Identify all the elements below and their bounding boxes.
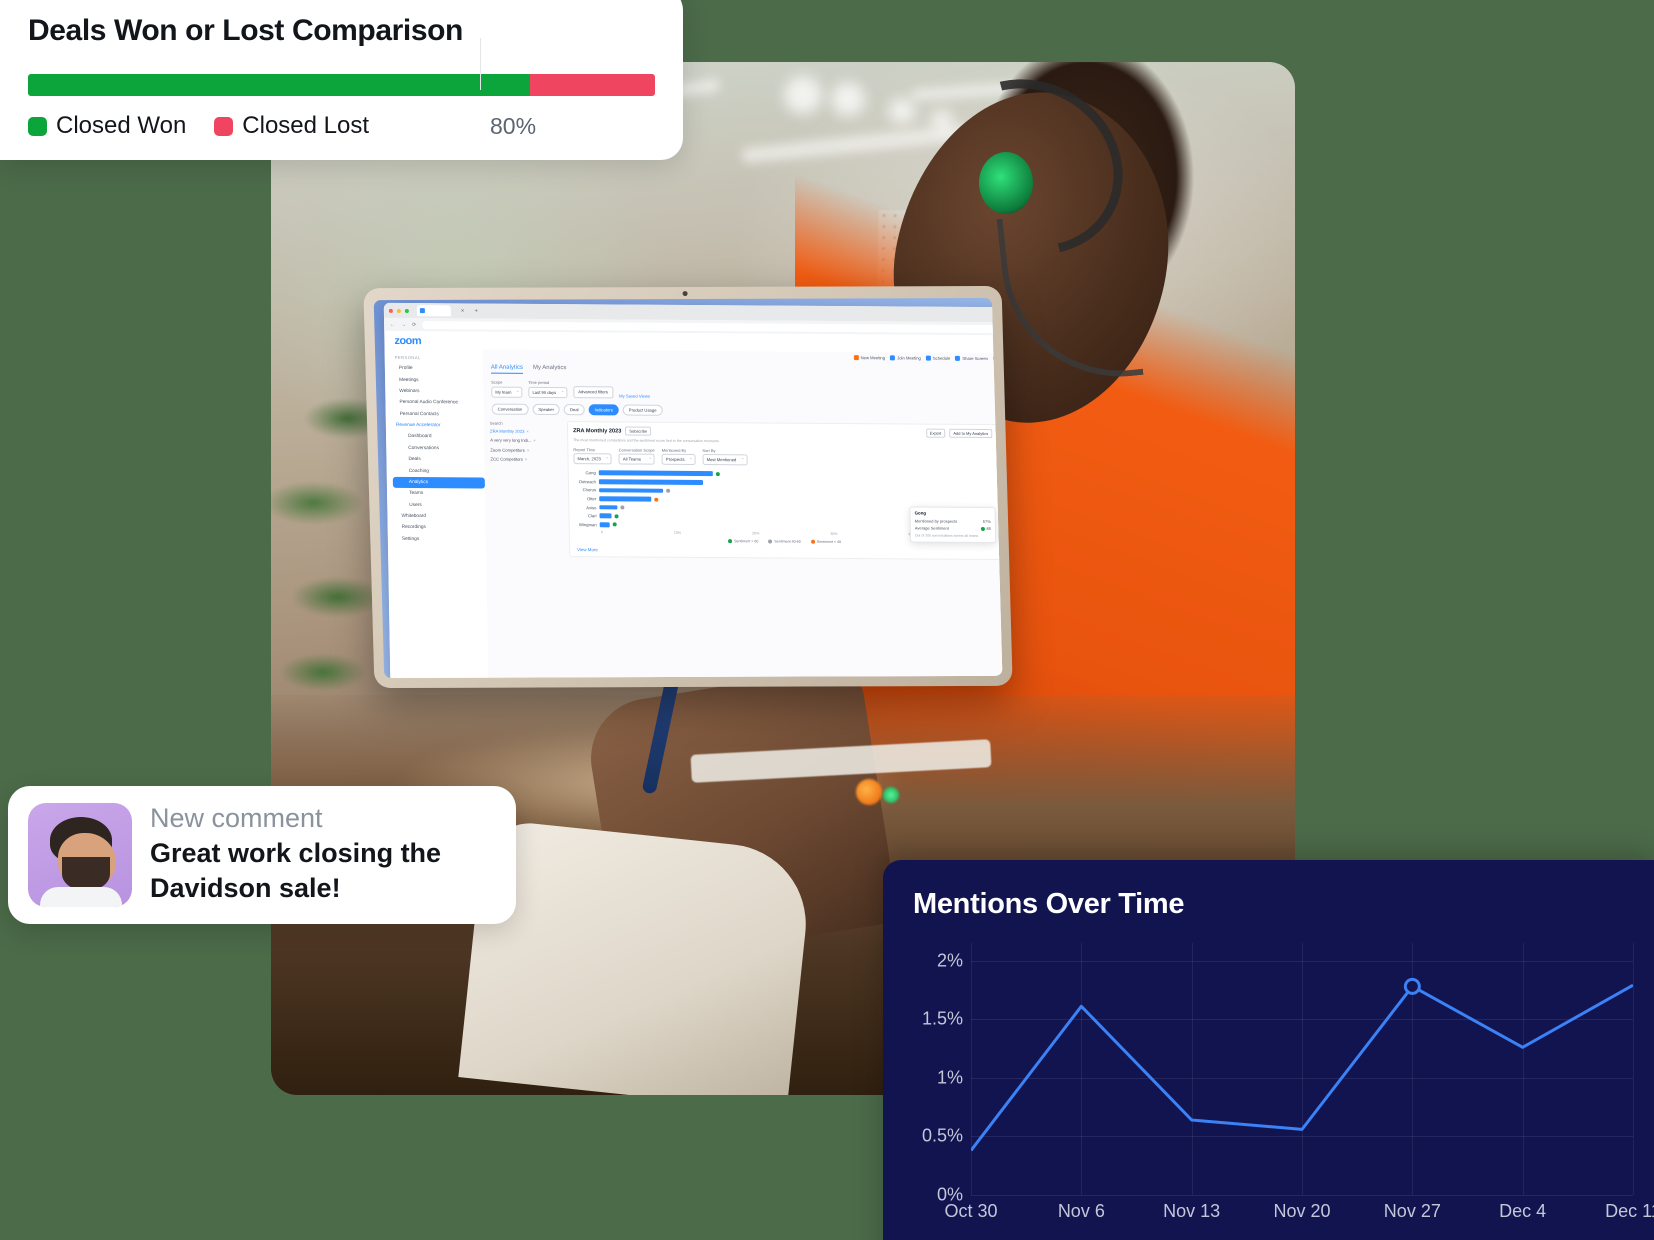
sentiment-dot-green xyxy=(716,472,720,476)
xtick: 20% xyxy=(752,532,759,536)
bar-label: Otter xyxy=(574,496,596,501)
scope-select[interactable]: My team xyxy=(491,386,522,397)
bar-fill xyxy=(599,479,703,484)
sidebar-item-personal-contacts[interactable]: Personal Contacts xyxy=(392,408,484,420)
headset-earcup xyxy=(979,152,1033,214)
sentiment-dot-grey xyxy=(620,506,624,510)
sentiment-dot-orange xyxy=(654,497,658,501)
filter-bar: Scope My team Time period Last 90 days A… xyxy=(489,380,998,401)
tooltip-row: Mentioned by prospects57% xyxy=(915,518,991,524)
sidebar-item-webinars[interactable]: Webinars xyxy=(391,386,483,398)
reload-icon[interactable]: ⟳ xyxy=(412,322,416,328)
pill-indicators[interactable]: Indicators xyxy=(589,404,619,416)
close-icon[interactable] xyxy=(389,308,393,312)
report-time-label: Report Time xyxy=(573,447,611,452)
avatar-beard xyxy=(62,857,110,891)
x-axis-labels: Oct 30Nov 6Nov 13Nov 20Nov 27Dec 4Dec 11 xyxy=(971,1201,1633,1227)
bar-row[interactable]: Chorus xyxy=(574,488,993,496)
mentions-card-title: Mentions Over Time xyxy=(913,888,1654,921)
subscribe-button[interactable]: Subscribe xyxy=(625,426,651,436)
report-card: Export Add to My Analytics ZRA Monthly 2… xyxy=(567,421,1001,560)
deals-legend: Closed Won Closed Lost 80% xyxy=(28,112,655,140)
mentions-plot: 0%0.5%1%1.5%2% Oct 30Nov 6Nov 13Nov 20No… xyxy=(913,943,1633,1233)
bar-label: Clari xyxy=(574,513,596,518)
mentioned-by-label: Mentioned By xyxy=(662,448,696,453)
progress-tick xyxy=(480,38,481,90)
search-column: Search ZRA Monthly 2023× A very very lon… xyxy=(490,420,564,557)
monitor-screen: × + ← → ⟳ zoom PERSONAL xyxy=(374,298,1003,678)
legend-dot-orange xyxy=(811,540,815,544)
back-icon[interactable]: ← xyxy=(390,321,395,327)
search-chip[interactable]: A very very long Indi...× xyxy=(490,438,562,444)
y-tick-label: 1.5% xyxy=(922,1009,963,1030)
bar-row[interactable]: Outreach xyxy=(574,479,993,487)
sidebar-item-revenue-accelerator[interactable]: Revenue Accelerator xyxy=(392,420,484,432)
mentions-over-time-card: Mentions Over Time 0%0.5%1%1.5%2% Oct 30… xyxy=(883,860,1654,1240)
x-tick-label: Oct 30 xyxy=(944,1201,997,1222)
sidebar-item-profile[interactable]: Profile xyxy=(391,363,483,375)
computer-monitor: × + ← → ⟳ zoom PERSONAL xyxy=(363,286,1012,688)
legend-item: Sentiment < 40 xyxy=(811,540,841,544)
legend-item-closed-lost: Closed Lost xyxy=(214,112,369,140)
share-icon xyxy=(955,355,960,360)
x-tick-label: Nov 13 xyxy=(1163,1201,1220,1222)
pill-conversation[interactable]: Conversation xyxy=(492,403,529,415)
page-root: × + ← → ⟳ zoom PERSONAL xyxy=(0,0,1654,1240)
x-tick-label: Nov 27 xyxy=(1384,1201,1441,1222)
bar-fill xyxy=(599,505,617,510)
deals-comparison-card: Deals Won or Lost Comparison Closed Won … xyxy=(0,0,683,160)
sort-by-filter: Sort By Most Mentioned xyxy=(702,448,747,466)
deals-card-title: Deals Won or Lost Comparison xyxy=(28,14,655,48)
pill-speaker[interactable]: Speaker xyxy=(532,403,560,415)
bar-fill xyxy=(599,497,651,502)
avatar[interactable] xyxy=(993,355,999,361)
sidebar-item-teams[interactable]: Teams xyxy=(393,488,485,500)
bar-fill xyxy=(600,522,610,527)
bar-fill xyxy=(599,471,713,476)
y-axis-labels: 0%0.5%1%1.5%2% xyxy=(913,943,969,1195)
advanced-filters-button[interactable]: Advanced filters xyxy=(573,386,613,398)
schedule-button[interactable]: Schedule xyxy=(926,355,951,360)
plus-icon xyxy=(890,355,895,360)
bar-label: Chorus xyxy=(574,488,596,493)
legend-dot-green xyxy=(728,540,732,544)
tooltip-row-value: 57% xyxy=(983,519,991,524)
legend-item: Sentiment > 60 xyxy=(728,540,758,544)
sidebar-item-deals[interactable]: Deals xyxy=(392,454,484,466)
report-time-filter: Report Time March, 2023 xyxy=(573,447,612,465)
sidebar-item-settings[interactable]: Settings xyxy=(394,533,486,545)
search-chip[interactable]: Zoom Competitors× xyxy=(490,447,562,453)
sidebar-item-whiteboard[interactable]: Whiteboard xyxy=(393,511,485,523)
sidebar-item-meetings[interactable]: Meetings xyxy=(391,374,483,386)
comment-body: Great work closing the Davidson sale! xyxy=(150,836,496,906)
new-comment-card[interactable]: New comment Great work closing the David… xyxy=(8,786,516,924)
tooltip-row: Average Sentiment85 xyxy=(915,526,991,532)
search-chip[interactable]: ZCC Competitors× xyxy=(490,457,562,463)
bar-label: Aviso xyxy=(574,505,596,510)
report-description: The most mentioned competitors and the s… xyxy=(573,438,992,445)
sidebar-item-personal-audio-conference[interactable]: Personal Audio Conference xyxy=(391,397,483,409)
report-title: ZRA Monthly 2023 xyxy=(573,428,621,434)
top-actions: New Meeting Join Meeting Schedule Share … xyxy=(854,354,999,361)
bar-fill xyxy=(600,514,612,519)
zoom-app: PERSONAL Profile Meetings Webinars Perso… xyxy=(385,349,1003,678)
search-chip[interactable]: ZRA Monthly 2023× xyxy=(490,428,562,434)
legend-swatch-green xyxy=(28,117,47,136)
tooltip-row-value: 85 xyxy=(986,526,991,531)
join-meeting-button[interactable]: Join Meeting xyxy=(890,355,921,360)
progress-segment-won xyxy=(28,74,530,96)
tooltip-row-label: Mentioned by prospects xyxy=(915,518,958,523)
add-to-my-analytics-button[interactable]: Add to My Analytics xyxy=(949,429,992,439)
report-time-select[interactable]: March, 2023 xyxy=(573,453,611,464)
x-tick-label: Nov 20 xyxy=(1273,1201,1330,1222)
sentiment-dot-green xyxy=(613,523,617,527)
bar-fill xyxy=(599,488,663,493)
bar-tooltip: Gong Mentioned by prospects57% Average S… xyxy=(910,507,997,544)
bar-row[interactable]: Otter xyxy=(574,496,993,504)
progress-segment-lost xyxy=(530,74,655,96)
legend-label: Closed Lost xyxy=(242,112,369,140)
deals-percent-label: 80% xyxy=(490,113,536,140)
sentiment-dot-green xyxy=(615,514,619,518)
mentions-line-series xyxy=(971,943,1633,1195)
avatar-shirt xyxy=(40,887,122,907)
analytics-tabs: All Analytics My Analytics xyxy=(489,365,997,378)
report-area: Search ZRA Monthly 2023× A very very lon… xyxy=(490,420,1001,560)
sidebar-item-coaching[interactable]: Coaching xyxy=(393,465,485,477)
new-tab-icon[interactable]: + xyxy=(474,308,478,314)
sort-by-label: Sort By xyxy=(702,448,747,453)
tab-all-analytics[interactable]: All Analytics xyxy=(491,365,523,374)
conversation-scope-label: Conversation Scope xyxy=(619,447,655,452)
legend-item-closed-won: Closed Won xyxy=(28,112,186,140)
deals-progress-bar xyxy=(28,74,655,96)
avatar xyxy=(28,803,132,907)
my-saved-views-link[interactable]: My Saved Views xyxy=(619,393,650,398)
sidebar-item-analytics[interactable]: Analytics xyxy=(393,477,485,489)
monitor-bezel: × + ← → ⟳ zoom PERSONAL xyxy=(363,286,1012,688)
forward-icon[interactable]: → xyxy=(401,322,406,328)
mentioned-by-filter: Mentioned By Prospects xyxy=(662,448,696,466)
report-selects: Report Time March, 2023 Conversation Sco… xyxy=(573,447,993,467)
xtick: 0 xyxy=(601,531,603,535)
legend-swatch-red xyxy=(214,117,233,136)
sort-by-select[interactable]: Most Mentioned xyxy=(702,454,747,465)
bar-label: Gong xyxy=(574,470,596,475)
tooltip-row-label: Average Sentiment xyxy=(915,526,949,531)
line-path xyxy=(971,985,1633,1150)
export-button[interactable]: Export xyxy=(926,428,946,438)
favicon-icon xyxy=(420,308,425,313)
video-icon xyxy=(854,355,859,360)
time-period-filter: Time period Last 90 days xyxy=(528,380,567,398)
competitor-bar-chart: Gong Outreach Chorus Otter Aviso Clari W… xyxy=(574,470,994,537)
bar-label: Outreach xyxy=(574,479,596,484)
sidebar: PERSONAL Profile Meetings Webinars Perso… xyxy=(385,349,489,678)
new-meeting-button[interactable]: New Meeting xyxy=(854,355,886,360)
sidebar-item-dashboard[interactable]: Dashboard xyxy=(392,431,484,443)
sidebar-item-conversations[interactable]: Conversations xyxy=(392,443,484,455)
tab-close-icon[interactable]: × xyxy=(461,308,465,314)
view-more-link[interactable]: View More xyxy=(575,548,994,556)
calendar-icon xyxy=(926,355,931,360)
maximize-icon[interactable] xyxy=(405,309,409,313)
legend-item: Sentiment 40-60 xyxy=(768,540,800,544)
comment-header: New comment xyxy=(150,804,496,834)
category-pills: Conversation Speaker Deal Indicators Pro… xyxy=(490,403,998,418)
tooltip-footer: Out of 200 conversations across all team… xyxy=(915,534,991,540)
pill-deal[interactable]: Deal xyxy=(564,404,585,416)
sidebar-caption: PERSONAL xyxy=(391,353,483,364)
sentiment-dot-grey xyxy=(666,489,670,493)
time-period-select[interactable]: Last 90 days xyxy=(528,386,567,397)
y-tick-label: 1% xyxy=(937,1067,963,1088)
main-content: New Meeting Join Meeting Schedule Share … xyxy=(483,350,1003,678)
gridline-vertical xyxy=(1633,943,1634,1195)
time-period-label: Time period xyxy=(528,380,567,385)
pill-product-usage[interactable]: Product Usage xyxy=(623,404,663,416)
webcam-icon xyxy=(683,291,688,296)
scope-label: Scope xyxy=(491,380,522,385)
bar-label: Wingman xyxy=(575,522,597,527)
x-tick-label: Dec 4 xyxy=(1499,1201,1546,1222)
sentiment-dot-green xyxy=(980,527,984,531)
scope-filter: Scope My team xyxy=(491,380,522,398)
xtick: 30% xyxy=(830,532,837,536)
x-tick-label: Nov 6 xyxy=(1058,1201,1105,1222)
share-screen-button[interactable]: Share Screen xyxy=(955,355,988,360)
comment-text: New comment Great work closing the David… xyxy=(150,804,496,906)
card-actions: Export Add to My Analytics xyxy=(926,428,993,438)
y-tick-label: 0.5% xyxy=(922,1126,963,1147)
sidebar-item-users[interactable]: Users xyxy=(393,499,485,511)
desk-light-green xyxy=(883,787,899,803)
sidebar-item-recordings[interactable]: Recordings xyxy=(394,522,486,534)
desk-light-orange xyxy=(856,779,882,805)
tab-my-analytics[interactable]: My Analytics xyxy=(533,365,567,374)
xtick: 10% xyxy=(674,531,681,535)
legend-label: Closed Won xyxy=(56,112,186,140)
browser-tab[interactable] xyxy=(417,305,451,316)
conversation-scope-filter: Conversation Scope All Teams xyxy=(619,447,655,465)
tooltip-title: Gong xyxy=(915,511,991,517)
y-tick-label: 2% xyxy=(937,950,963,971)
data-point-marker[interactable] xyxy=(1405,979,1419,993)
mentioned-by-select[interactable]: Prospects xyxy=(662,454,696,465)
minimize-icon[interactable] xyxy=(397,308,401,312)
search-label: Search xyxy=(490,420,562,426)
browser-window: × + ← → ⟳ zoom PERSONAL xyxy=(384,303,1003,678)
gridline-horizontal xyxy=(971,1195,1633,1196)
legend-dot-grey xyxy=(768,540,772,544)
x-tick-label: Dec 11 xyxy=(1605,1201,1654,1222)
conversation-scope-select[interactable]: All Teams xyxy=(619,454,655,465)
bar-row[interactable]: Gong xyxy=(574,470,993,478)
